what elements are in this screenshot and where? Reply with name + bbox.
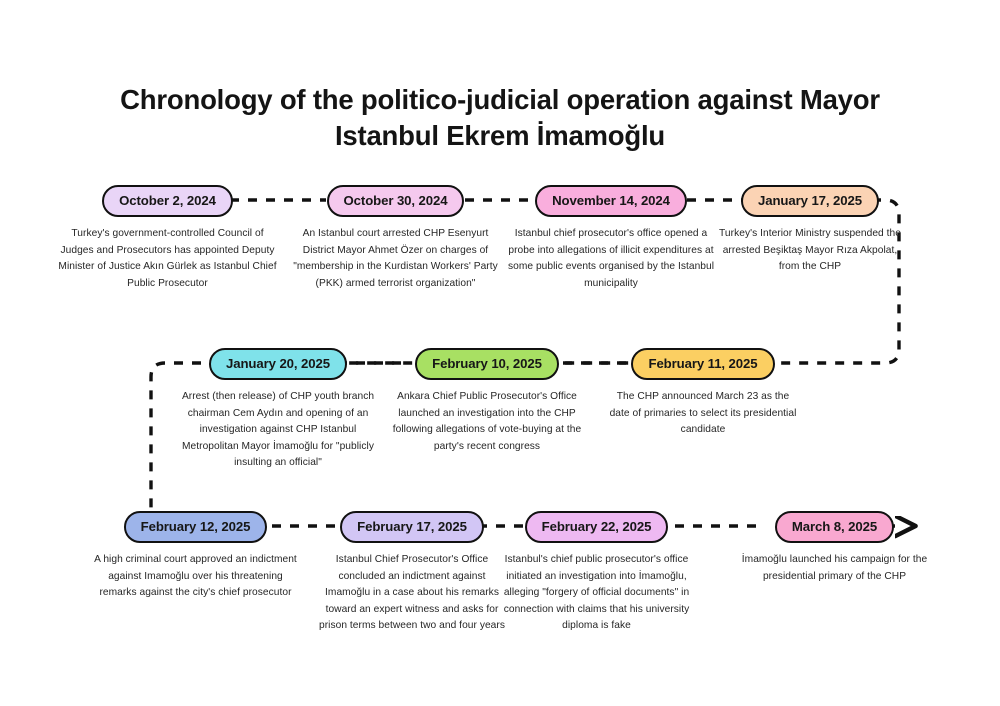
date-pill-wrap: February 12, 2025 (94, 511, 297, 543)
event-description: Istanbul Chief Prosecutor's Office concl… (317, 552, 507, 635)
event-description: A high criminal court approved an indict… (94, 552, 297, 602)
date-pill[interactable]: February 22, 2025 (525, 511, 669, 543)
timeline-event[interactable]: February 17, 2025 Istanbul Chief Prosecu… (317, 511, 507, 635)
date-pill-wrap: February 11, 2025 (608, 348, 798, 380)
page-title-line-2: Istanbul Ekrem İmamoğlu (0, 118, 1000, 154)
timeline-event[interactable]: January 17, 2025 Turkey's Interior Minis… (712, 185, 908, 276)
timeline-event[interactable]: November 14, 2024 Istanbul chief prosecu… (505, 185, 717, 292)
timeline-event[interactable]: March 8, 2025 İmamoğlu launched his camp… (723, 511, 946, 585)
event-description: An Istanbul court arrested CHP Esenyurt … (288, 226, 503, 292)
date-pill[interactable]: January 17, 2025 (741, 185, 879, 217)
date-pill[interactable]: February 10, 2025 (415, 348, 559, 380)
timeline-event[interactable]: February 12, 2025 A high criminal court … (94, 511, 297, 602)
date-pill[interactable]: January 20, 2025 (209, 348, 347, 380)
event-description: Arrest (then release) of CHP youth branc… (172, 389, 384, 472)
date-pill-wrap: November 14, 2024 (505, 185, 717, 217)
page-title-line-1: Chronology of the politico-judicial oper… (120, 84, 880, 115)
date-pill-wrap: February 17, 2025 (317, 511, 507, 543)
event-description: Istanbul's chief public prosecutor's off… (501, 552, 692, 635)
date-pill[interactable]: November 14, 2024 (535, 185, 687, 217)
page-title: Chronology of the politico-judicial oper… (0, 82, 1000, 154)
date-pill[interactable]: October 30, 2024 (327, 185, 465, 217)
event-description: Ankara Chief Public Prosecutor's Office … (392, 389, 582, 455)
date-pill[interactable]: February 11, 2025 (631, 348, 774, 380)
date-pill-wrap: March 8, 2025 (723, 511, 946, 543)
event-description: İmamoğlu launched his campaign for the p… (723, 552, 946, 585)
date-pill[interactable]: February 17, 2025 (340, 511, 484, 543)
date-pill-wrap: January 17, 2025 (712, 185, 908, 217)
event-description: Turkey's Interior Ministry suspended the… (712, 226, 908, 276)
event-description: Turkey's government-controlled Council o… (55, 226, 280, 292)
timeline-event[interactable]: October 2, 2024 Turkey's government-cont… (55, 185, 280, 292)
timeline-event[interactable]: January 20, 2025 Arrest (then release) o… (172, 348, 384, 472)
timeline-event[interactable]: October 30, 2024 An Istanbul court arres… (288, 185, 503, 292)
date-pill-wrap: February 10, 2025 (392, 348, 582, 380)
event-description: Istanbul chief prosecutor's office opene… (505, 226, 717, 292)
date-pill[interactable]: February 12, 2025 (124, 511, 268, 543)
timeline-infographic: Chronology of the politico-judicial oper… (0, 0, 1000, 706)
timeline-event[interactable]: February 10, 2025 Ankara Chief Public Pr… (392, 348, 582, 455)
timeline-event[interactable]: February 22, 2025 Istanbul's chief publi… (501, 511, 692, 635)
event-description: The CHP announced March 23 as the date o… (608, 389, 798, 439)
date-pill[interactable]: March 8, 2025 (775, 511, 894, 543)
date-pill-wrap: February 22, 2025 (501, 511, 692, 543)
timeline-event[interactable]: February 11, 2025 The CHP announced Marc… (608, 348, 798, 439)
date-pill-wrap: January 20, 2025 (172, 348, 384, 380)
date-pill[interactable]: October 2, 2024 (102, 185, 233, 217)
date-pill-wrap: October 2, 2024 (55, 185, 280, 217)
date-pill-wrap: October 30, 2024 (288, 185, 503, 217)
